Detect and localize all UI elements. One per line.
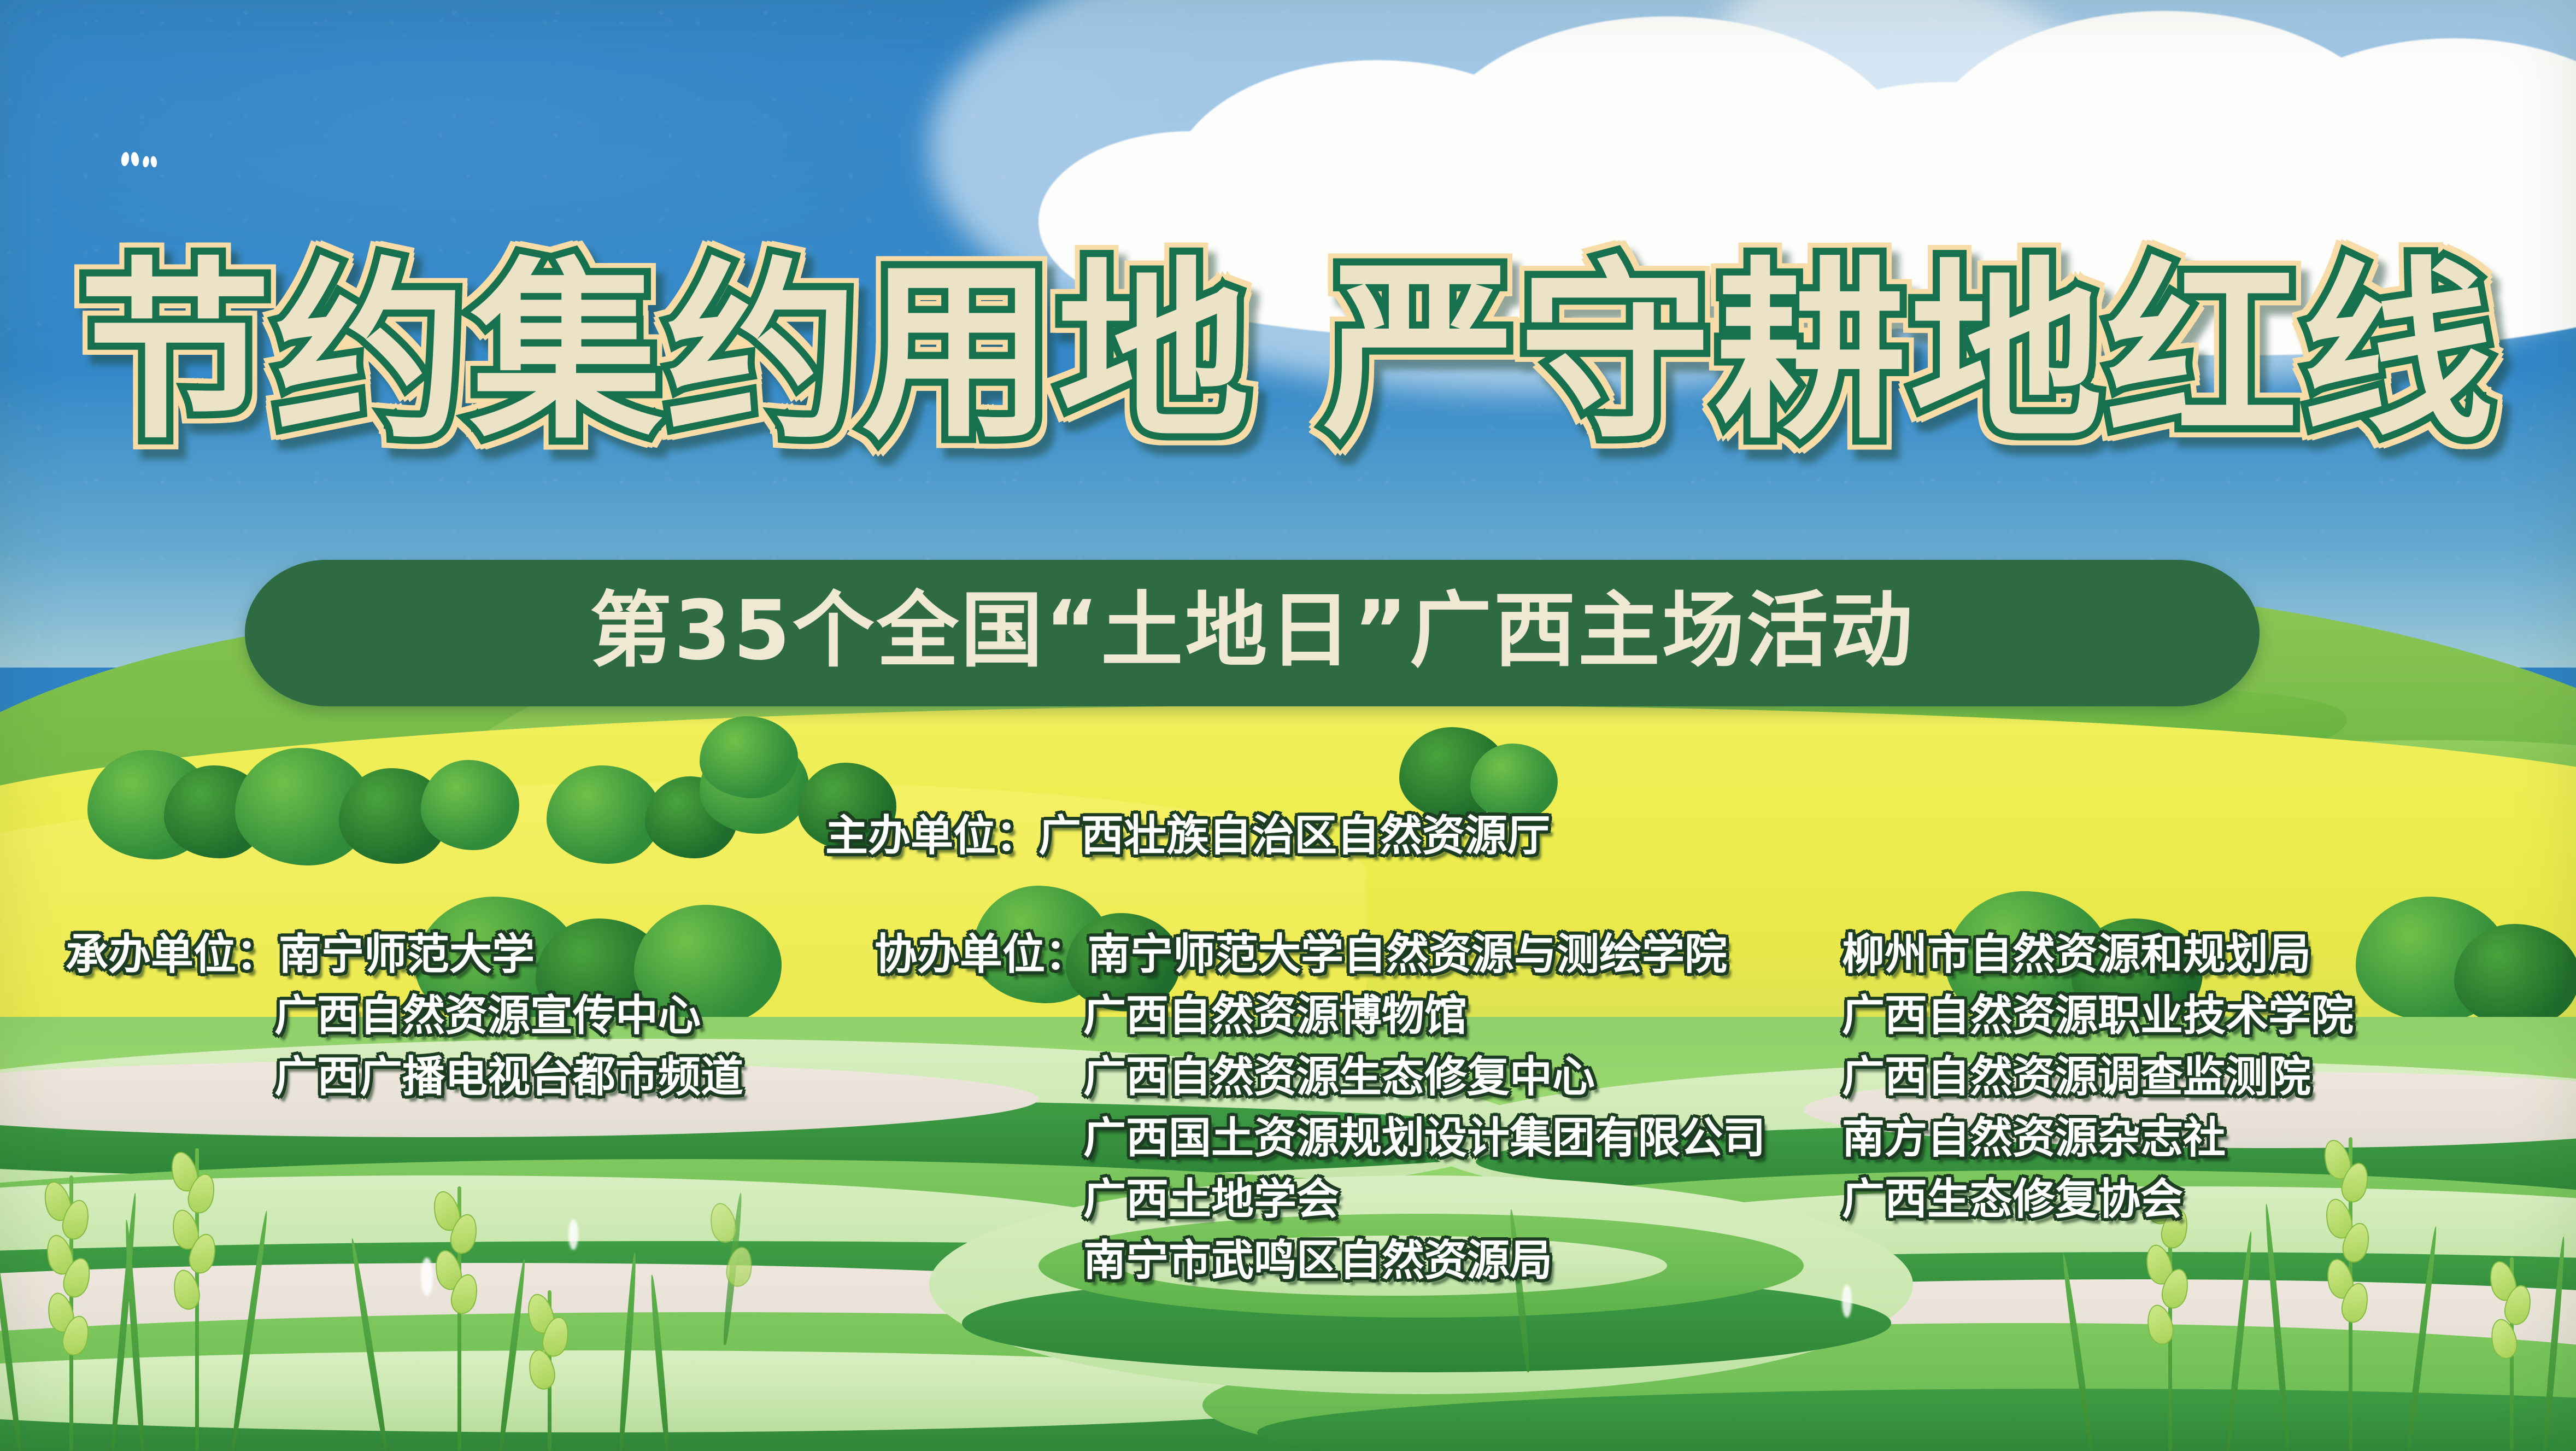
- rice-wheat-stalk: [443, 1186, 476, 1451]
- coorganizer-line-5: 广西土地学会: [875, 1169, 1765, 1230]
- organizer-column: 承办单位：南宁师范大学 广西自然资源宣传中心 广西广播电视台都市频道: [66, 924, 743, 1108]
- coorganizer-column-right: 柳州市自然资源和规划局 广西自然资源职业技术学院 广西自然资源调查监测院 南方自…: [1842, 924, 2354, 1230]
- host-line: 主办单位：广西壮族自治区自然资源厅: [825, 805, 1550, 867]
- coorganizer-right-line-1: 柳州市自然资源和规划局: [1842, 924, 2354, 985]
- rice-wheat-stalk: [180, 1148, 213, 1451]
- rice-wheat-stalk: [536, 1290, 563, 1451]
- organizer-line-3: 广西广播电视台都市频道: [66, 1046, 743, 1108]
- page-title: 节约集约用地 严守耕地红线: [79, 257, 2497, 449]
- coorganizer-right-line-4: 南方自然资源杂志社: [1842, 1108, 2354, 1169]
- coorganizer-line-3: 广西自然资源生态修复中心: [875, 1046, 1765, 1108]
- rice-wheat-stalk: [55, 1175, 87, 1451]
- organizer-line-2: 广西自然资源宣传中心: [66, 985, 743, 1046]
- main-title-container: 节约集约用地 严守耕地红线: [0, 257, 2576, 449]
- coorganizer-right-line-3: 广西自然资源调查监测院: [1842, 1046, 2354, 1108]
- coorganizer-line-1: 协办单位：南宁师范大学自然资源与测绘学院: [875, 924, 1765, 985]
- coorganizer-line-4: 广西国土资源规划设计集团有限公司: [875, 1108, 1765, 1169]
- tree: [700, 716, 798, 798]
- tree: [547, 765, 661, 864]
- subtitle-text: 第35个全国“土地日”广西主场活动: [590, 590, 1915, 672]
- subtitle-banner: 第35个全国“土地日”广西主场活动: [245, 560, 2260, 706]
- host-organization: 主办单位：广西壮族自治区自然资源厅: [825, 805, 1550, 867]
- coorganizer-right-line-2: 广西自然资源职业技术学院: [1842, 985, 2354, 1046]
- tree: [421, 760, 519, 850]
- tree: [2454, 924, 2576, 1028]
- rice-wheat-stalk: [2498, 1257, 2525, 1451]
- poster-canvas: 节约集约用地 严守耕地红线 第35个全国“土地日”广西主场活动 主办单位：广西壮…: [0, 0, 2576, 1451]
- coorganizer-line-2: 广西自然资源博物馆: [875, 985, 1765, 1046]
- light-sparkle: [421, 1257, 433, 1296]
- coorganizer-line-6: 南宁市武鸣区自然资源局: [875, 1230, 1765, 1291]
- light-sparkle: [568, 1219, 578, 1250]
- coorganizer-column: 协办单位：南宁师范大学自然资源与测绘学院 广西自然资源博物馆 广西自然资源生态修…: [875, 924, 1765, 1291]
- light-sparkle: [1842, 1285, 1852, 1318]
- organizer-line-1: 承办单位：南宁师范大学: [66, 924, 743, 985]
- coorganizer-right-line-5: 广西生态修复协会: [1842, 1169, 2354, 1230]
